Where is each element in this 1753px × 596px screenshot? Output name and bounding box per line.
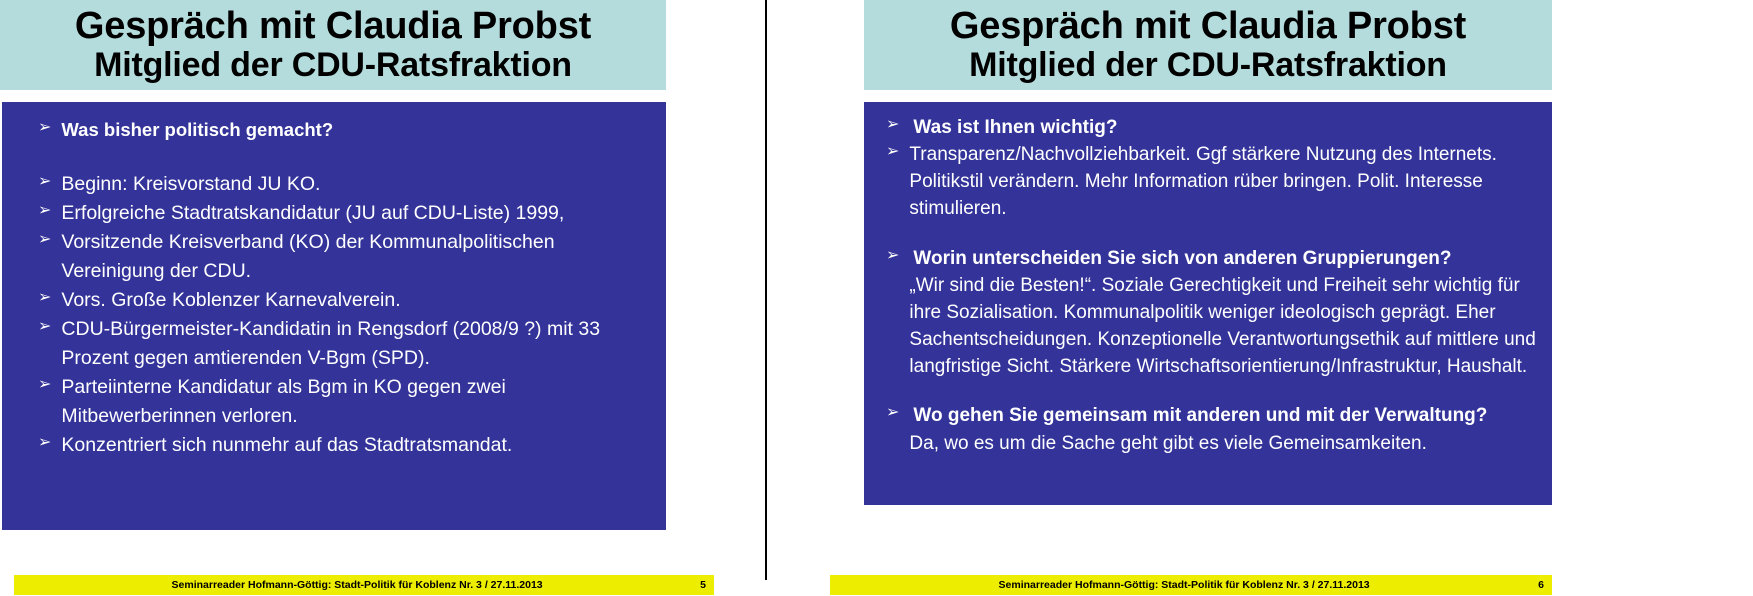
slide-footer-bar: Seminarreader Hofmann-Göttig: Stadt-Poli… bbox=[14, 575, 714, 595]
chevron-bullet-icon: ➢ bbox=[38, 228, 61, 252]
slide-title-banner: Gespräch mit Claudia Probst Mitglied der… bbox=[864, 0, 1552, 90]
bullet-text: Transparenz/Nachvollziehbarkeit. Ggf stä… bbox=[909, 141, 1542, 222]
slide-number: 5 bbox=[700, 579, 714, 591]
bullet-text: Worin unterscheiden Sie sich von anderen… bbox=[913, 245, 1542, 272]
bullet-text: CDU-Bürgermeister-Kandidatin in Rengsdor… bbox=[61, 315, 652, 373]
bullet-item: ➢ „Wir sind die Besten!“. Soziale Gerech… bbox=[886, 272, 1542, 381]
chevron-bullet-icon: ➢ bbox=[886, 114, 913, 137]
bullet-item: ➢ Parteiinterne Kandidatur als Bgm in KO… bbox=[38, 373, 652, 431]
bullet-item: ➢ Was ist Ihnen wichtig? bbox=[886, 114, 1542, 141]
chevron-bullet-icon: ➢ bbox=[886, 402, 913, 425]
slide-title-line-1: Gespräch mit Claudia Probst bbox=[75, 7, 591, 46]
bullet-item: ➢ Wo gehen Sie gemeinsam mit anderen und… bbox=[886, 402, 1542, 429]
bullet-item: ➢ Erfolgreiche Stadtratskandidatur (JU a… bbox=[38, 199, 652, 228]
footer-source-text: Seminarreader Hofmann-Göttig: Stadt-Poli… bbox=[14, 579, 700, 591]
bullet-text: Erfolgreiche Stadtratskandidatur (JU auf… bbox=[61, 199, 652, 228]
chevron-bullet-icon: ➢ bbox=[886, 141, 909, 164]
bullet-text: Was ist Ihnen wichtig? bbox=[913, 114, 1542, 141]
bullet-spacer bbox=[38, 144, 652, 170]
bullet-item: ➢ Vorsitzende Kreisverband (KO) der Komm… bbox=[38, 228, 652, 286]
handout-page: Gespräch mit Claudia Probst Mitglied der… bbox=[0, 0, 1753, 596]
slide-body-box: ➢ Was bisher politisch gemacht? ➢ Beginn… bbox=[2, 102, 666, 530]
slide-thumbnail-2[interactable]: Gespräch mit Claudia Probst Mitglied der… bbox=[820, 0, 1540, 596]
bullet-item: ➢ Vors. Große Koblenzer Karnevalverein. bbox=[38, 286, 652, 315]
chevron-bullet-icon: ➢ bbox=[886, 245, 913, 268]
bullet-text: Parteiinterne Kandidatur als Bgm in KO g… bbox=[61, 373, 652, 431]
slide-title-line-2: Mitglied der CDU-Ratsfraktion bbox=[94, 48, 572, 84]
bullet-item: ➢ Was bisher politisch gemacht? bbox=[38, 116, 652, 144]
bullet-text: Konzentriert sich nunmehr auf das Stadtr… bbox=[61, 431, 652, 460]
chevron-bullet-icon: ➢ bbox=[38, 170, 61, 194]
bullet-item: ➢ Da, wo es um die Sache geht gibt es vi… bbox=[886, 430, 1542, 457]
slide-title-banner: Gespräch mit Claudia Probst Mitglied der… bbox=[0, 0, 666, 90]
footer-source-text: Seminarreader Hofmann-Göttig: Stadt-Poli… bbox=[830, 579, 1538, 591]
bullet-text: Vorsitzende Kreisverband (KO) der Kommun… bbox=[61, 228, 652, 286]
bullet-item: ➢ Transparenz/Nachvollziehbarkeit. Ggf s… bbox=[886, 141, 1542, 222]
bullet-item: ➢ Worin unterscheiden Sie sich von ander… bbox=[886, 245, 1542, 272]
slide-column-divider bbox=[765, 0, 767, 580]
bullet-item: ➢ CDU-Bürgermeister-Kandidatin in Rengsd… bbox=[38, 315, 652, 373]
bullet-text: Wo gehen Sie gemeinsam mit anderen und m… bbox=[913, 402, 1542, 429]
bullet-spacer bbox=[886, 223, 1542, 245]
bullet-item: ➢ Beginn: Kreisvorstand JU KO. bbox=[38, 170, 652, 199]
chevron-bullet-icon: ➢ bbox=[38, 116, 61, 140]
bullet-text: Da, wo es um die Sache geht gibt es viel… bbox=[909, 430, 1542, 457]
bullet-text: Was bisher politisch gemacht? bbox=[61, 116, 652, 144]
chevron-bullet-icon: ➢ bbox=[38, 431, 61, 455]
bullet-text: Beginn: Kreisvorstand JU KO. bbox=[61, 170, 652, 199]
bullet-text: Vors. Große Koblenzer Karnevalverein. bbox=[61, 286, 652, 315]
slide-title-line-2: Mitglied der CDU-Ratsfraktion bbox=[969, 48, 1447, 84]
slide-number: 6 bbox=[1538, 579, 1552, 591]
slide-title-line-1: Gespräch mit Claudia Probst bbox=[950, 7, 1466, 46]
chevron-bullet-icon: ➢ bbox=[38, 315, 61, 339]
chevron-bullet-icon: ➢ bbox=[38, 373, 61, 397]
bullet-item: ➢ Konzentriert sich nunmehr auf das Stad… bbox=[38, 431, 652, 460]
slide-thumbnail-1[interactable]: Gespräch mit Claudia Probst Mitglied der… bbox=[0, 0, 720, 596]
chevron-bullet-icon: ➢ bbox=[38, 286, 61, 310]
slide-body-box: ➢ Was ist Ihnen wichtig? ➢ Transparenz/N… bbox=[864, 102, 1552, 505]
chevron-bullet-icon: ➢ bbox=[38, 199, 61, 223]
bullet-text: „Wir sind die Besten!“. Soziale Gerechti… bbox=[909, 272, 1542, 381]
slide-footer-bar: Seminarreader Hofmann-Göttig: Stadt-Poli… bbox=[830, 575, 1552, 595]
bullet-spacer bbox=[886, 380, 1542, 402]
